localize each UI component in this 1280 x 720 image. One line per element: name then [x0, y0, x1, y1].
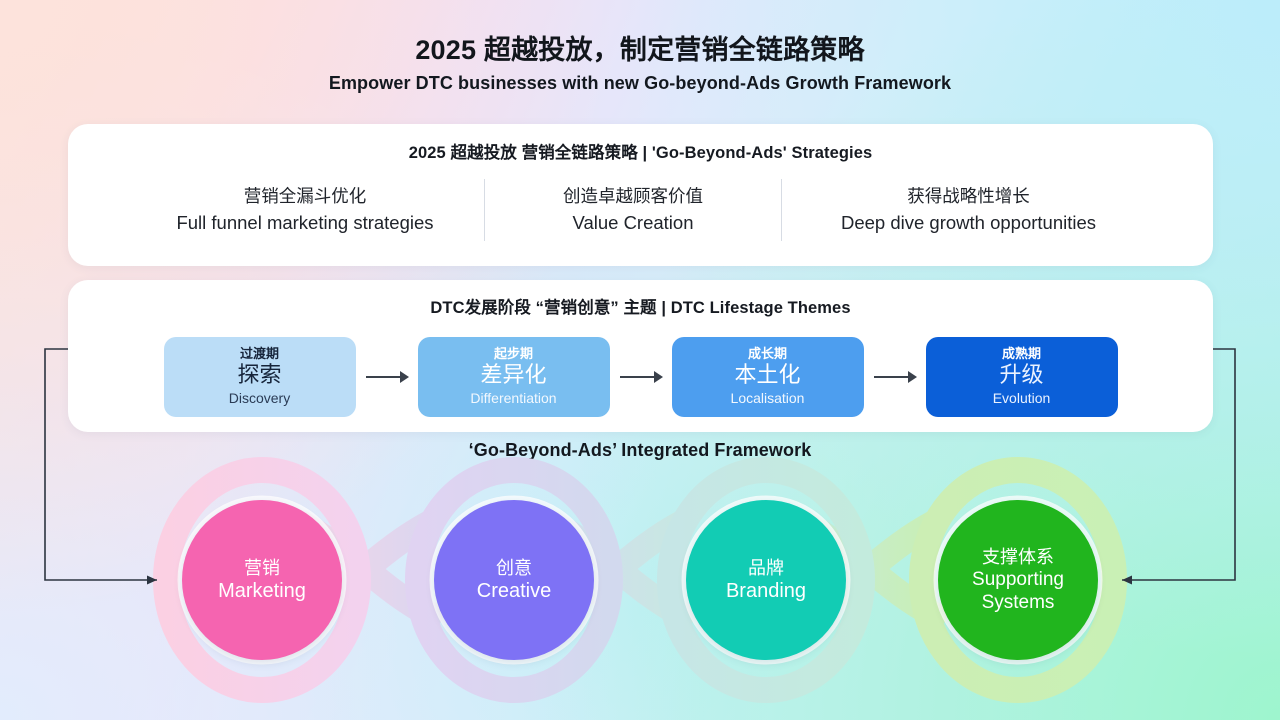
framework-node-creative[interactable]: 创意 Creative — [434, 500, 594, 660]
node-en-label: Supporting — [972, 568, 1064, 591]
lifestage-stage-row: 过渡期 探索 Discovery 起步期 差异化 Differentiation… — [68, 332, 1213, 422]
strategy-en-label: Full funnel marketing strategies — [140, 210, 470, 237]
stage-box-discovery[interactable]: 过渡期 探索 Discovery — [164, 337, 356, 417]
strategy-column-value-creation: 创造卓越顾客价值 Value Creation — [485, 183, 781, 236]
stage-phase-label: 成长期 — [748, 347, 787, 361]
stage-cn-label: 升级 — [999, 362, 1043, 388]
node-cn-label: 营销 — [244, 557, 280, 580]
strategy-en-label: Deep dive growth opportunities — [796, 210, 1141, 237]
node-en-label-2: Systems — [982, 591, 1055, 614]
node-cn-label: 支撑体系 — [982, 546, 1054, 569]
stage-en-label: Evolution — [993, 390, 1051, 408]
stage-box-localisation[interactable]: 成长期 本土化 Localisation — [672, 337, 864, 417]
stage-cn-label: 探索 — [237, 362, 281, 388]
node-cn-label: 品牌 — [748, 557, 784, 580]
strategy-cn-label: 获得战略性增长 — [796, 183, 1141, 209]
strategy-cn-label: 营销全漏斗优化 — [140, 183, 470, 209]
framework-node-supporting-systems[interactable]: 支撑体系 Supporting Systems — [938, 500, 1098, 660]
framework-node-branding[interactable]: 品牌 Branding — [686, 500, 846, 660]
strategy-column-full-funnel: 营销全漏斗优化 Full funnel marketing strategies — [126, 183, 484, 236]
node-en-label: Marketing — [218, 579, 306, 603]
strategy-cn-label: 创造卓越顾客价值 — [499, 183, 767, 209]
page-headline: 2025 超越投放，制定营销全链路策略 Empower DTC business… — [0, 28, 1280, 94]
stage-en-label: Discovery — [229, 390, 290, 408]
framework-node-marketing[interactable]: 营销 Marketing — [182, 500, 342, 660]
stage-box-evolution[interactable]: 成熟期 升级 Evolution — [926, 337, 1118, 417]
stage-phase-label: 起步期 — [494, 347, 533, 361]
node-cn-label: 创意 — [496, 557, 532, 580]
page-title-en: Empower DTC businesses with new Go-beyon… — [0, 73, 1280, 94]
stage-arrow-icon — [864, 367, 926, 387]
stage-en-label: Localisation — [731, 390, 805, 408]
strategy-column-growth: 获得战略性增长 Deep dive growth opportunities — [782, 183, 1155, 236]
strategies-row: 营销全漏斗优化 Full funnel marketing strategies… — [68, 179, 1213, 241]
stage-box-differentiation[interactable]: 起步期 差异化 Differentiation — [418, 337, 610, 417]
node-en-label: Creative — [477, 579, 551, 603]
page-title-cn: 2025 超越投放，制定营销全链路策略 — [0, 28, 1280, 67]
node-en-label: Branding — [726, 579, 806, 603]
framework-diagram: 营销 Marketing 创意 Creative 品牌 Branding 支撑体… — [0, 455, 1280, 720]
lifestage-card: DTC发展阶段 “营销创意” 主题 | DTC Lifestage Themes… — [68, 280, 1213, 432]
stage-cn-label: 差异化 — [480, 362, 546, 388]
stage-cn-label: 本土化 — [734, 362, 800, 388]
lifestage-card-title: DTC发展阶段 “营销创意” 主题 | DTC Lifestage Themes — [68, 280, 1213, 318]
strategy-en-label: Value Creation — [499, 210, 767, 237]
stage-phase-label: 过渡期 — [240, 347, 279, 361]
strategies-card-title: 2025 超越投放 营销全链路策略 | 'Go-Beyond-Ads' Stra… — [68, 124, 1213, 163]
stage-arrow-icon — [610, 367, 672, 387]
stage-en-label: Differentiation — [470, 390, 556, 408]
stage-arrow-icon — [356, 367, 418, 387]
stage-phase-label: 成熟期 — [1002, 347, 1041, 361]
strategies-card: 2025 超越投放 营销全链路策略 | 'Go-Beyond-Ads' Stra… — [68, 124, 1213, 266]
